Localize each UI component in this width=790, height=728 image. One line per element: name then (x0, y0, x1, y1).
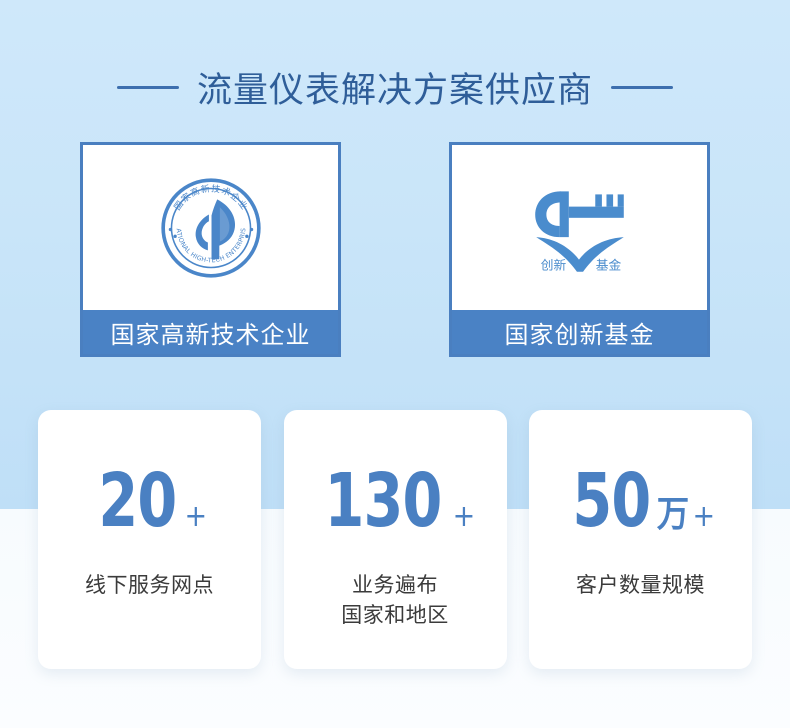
certificate-logo-area: 国家高新技术企业 NATIONAL HIGH-TECH ENTERPRISE (83, 145, 338, 310)
stat-unit: 万 (656, 497, 688, 533)
certificate-caption-innovation-fund: 国家创新基金 (452, 310, 707, 354)
stat-label: 线下服务网点 (85, 570, 214, 600)
stat-plus: + (453, 502, 476, 532)
certificate-logo-area: 创新 基金 (452, 145, 707, 310)
national-high-tech-enterprise-badge-icon: 国家高新技术企业 NATIONAL HIGH-TECH ENTERPRISE (159, 176, 263, 280)
stat-card-service-points[interactable]: 20 + 线下服务网点 (38, 410, 261, 669)
stat-number: 20 + (92, 464, 207, 538)
stat-label-line: 线下服务网点 (85, 570, 214, 600)
stat-label-line: 客户数量规模 (576, 570, 705, 600)
certificate-caption-high-tech: 国家高新技术企业 (83, 310, 338, 354)
innovation-fund-key-icon: 创新 基金 (524, 176, 636, 280)
promo-banner: 流量仪表解决方案供应商 国家高新技术企业 NATION (0, 0, 790, 728)
certificate-card-innovation-fund[interactable]: 创新 基金 国家创新基金 (449, 142, 710, 357)
stat-card-customers[interactable]: 50 万 + 客户数量规模 (529, 410, 752, 669)
innovation-fund-right-text: 基金 (595, 257, 621, 272)
certificate-list: 国家高新技术企业 NATIONAL HIGH-TECH ENTERPRISE 国… (80, 142, 710, 357)
headline: 流量仪表解决方案供应商 (0, 62, 790, 113)
stat-number: 130 + (315, 464, 476, 538)
headline-rule-left (117, 86, 179, 89)
stat-number: 50 万 + (566, 464, 715, 538)
stat-label: 业务遍布 国家和地区 (341, 570, 449, 631)
stat-value: 20 (98, 464, 176, 538)
stat-card-countries[interactable]: 130 + 业务遍布 国家和地区 (284, 410, 507, 669)
stat-label: 客户数量规模 (576, 570, 705, 600)
certificate-card-high-tech[interactable]: 国家高新技术企业 NATIONAL HIGH-TECH ENTERPRISE 国… (80, 142, 341, 357)
stat-plus: + (693, 502, 716, 532)
stat-plus: + (185, 502, 208, 532)
stat-label-line: 国家和地区 (341, 600, 449, 630)
headline-text: 流量仪表解决方案供应商 (197, 62, 593, 113)
stat-label-line: 业务遍布 (341, 570, 449, 600)
innovation-fund-left-text: 创新 (540, 257, 566, 272)
headline-rule-right (611, 86, 673, 89)
stat-value: 50 (572, 464, 650, 538)
stat-card-list: 20 + 线下服务网点 130 + 业务遍布 国家和地区 50 万 + (38, 410, 752, 669)
stat-value: 130 (324, 464, 441, 538)
